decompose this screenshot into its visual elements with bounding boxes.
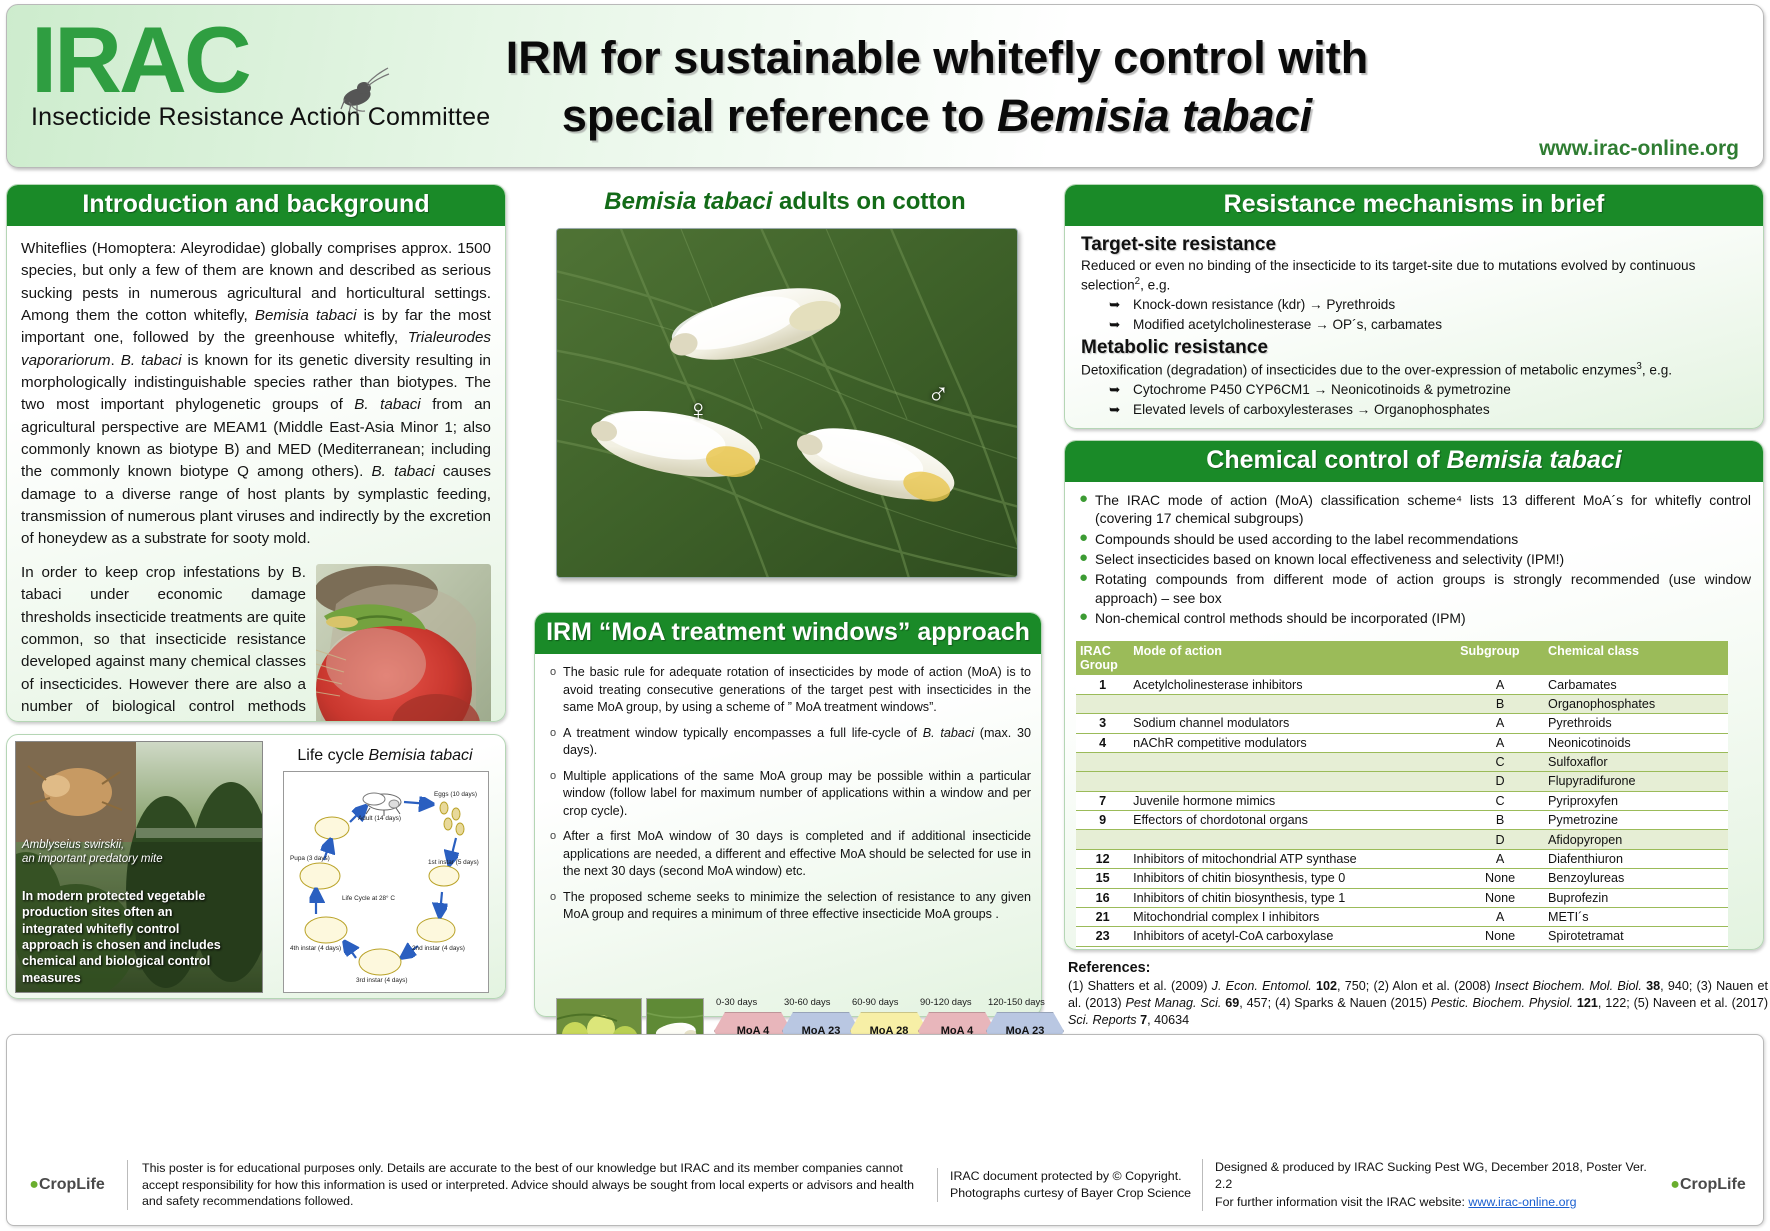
cell-subgroup: A [1456,675,1544,694]
table-row: DAfidopyropen [1076,830,1728,849]
moa-classification-table: IRACGroup Mode of action Subgroup Chemic… [1076,641,1728,950]
svg-text:2nd instar (4 days): 2nd instar (4 days) [412,945,465,952]
moa-item-text: The basic rule for adequate rotation of … [563,664,1031,717]
cell-chemical-class: Benzoylureas [1544,869,1728,888]
poster-title-line2: special reference to Bemisia tabaci [437,87,1437,145]
cell-irac-group [1076,752,1129,771]
resistance-heading: Resistance mechanisms in brief [1065,185,1763,226]
cell-irac-group: 21 [1076,907,1129,926]
moa-list-item: o After a first MoA window of 30 days is… [543,828,1031,881]
cell-subgroup: B [1456,694,1544,713]
bullet-dot-icon: ● [1079,570,1095,607]
bullet-dot-icon: ● [1079,609,1095,627]
cell-chemical-class: Afidopyropen [1544,830,1728,849]
moa-list-item: o A treatment window typically encompass… [543,725,1031,760]
cell-mode-of-action [1129,752,1456,771]
poster-title: IRM for sustainable whitefly control wit… [437,29,1437,145]
cell-chemical-class: Spirotetramat [1544,927,1728,946]
table-row: 12Inhibitors of mitochondrial ATP syntha… [1076,849,1728,868]
moa-item-text: After a first MoA window of 30 days is c… [563,828,1031,881]
resistance-mechanisms-panel: Resistance mechanisms in brief Target-si… [1064,184,1764,429]
moa-list-item: o Multiple applications of the same MoA … [543,768,1031,821]
table-row: 28Ryanodine receptor modulatorsNoneCyant… [1076,946,1728,950]
introduction-heading: Introduction and background [7,185,505,226]
bullet-dot-icon: ● [1079,491,1095,528]
cell-mode-of-action: Juvenile hormone mimics [1129,791,1456,810]
table-row: 7Juvenile hormone mimicsCPyriproxyfen [1076,791,1728,810]
bemisia-photo-caption: Bemisia tabaci adults on cotton [520,188,1050,216]
bullet-dot-icon: ● [1079,530,1095,548]
table-row: 9Effectors of chordotonal organsBPymetro… [1076,811,1728,830]
resistance-item-text: Knock-down resistance (kdr) → Pyrethroid… [1133,295,1749,315]
table-row: 16Inhibitors of chitin biosynthesis, typ… [1076,888,1728,907]
cell-irac-group: 4 [1076,733,1129,752]
cell-subgroup: None [1456,927,1544,946]
cell-irac-group [1076,830,1129,849]
chevron-right-icon: ➥ [1081,315,1133,335]
cell-subgroup: A [1456,907,1544,926]
cell-subgroup: C [1456,791,1544,810]
references-block: References: (1) Shatters et al. (2009) J… [1068,960,1768,1029]
whitefly-logo-icon [331,65,391,117]
cell-irac-group: 15 [1076,869,1129,888]
moa-approach-body: o The basic rule for adequate rotation o… [535,654,1041,938]
introduction-panel: Introduction and background Whiteflies (… [6,184,506,722]
cell-subgroup: A [1456,714,1544,733]
window-days-label: 90-120 days [920,996,972,1007]
cell-irac-group: 12 [1076,849,1129,868]
table-row: 3Sodium channel modulatorsAPyrethroids [1076,714,1728,733]
greenhouse-photo: Amblyseius swirskii, an important predat… [15,741,263,993]
introduction-paragraph-2: In order to keep crop infestations by B.… [21,562,491,722]
cell-mode-of-action [1129,694,1456,713]
moa-approach-heading: IRM “MoA treatment windows” approach [535,613,1041,654]
cell-subgroup: A [1456,849,1544,868]
lifecycle-title: Life cycle Bemisia tabaci [269,747,501,765]
cell-subgroup: D [1456,830,1544,849]
cell-subgroup: D [1456,772,1544,791]
cell-mode-of-action [1129,830,1456,849]
moa-item-text: Multiple applications of the same MoA gr… [563,768,1031,821]
cell-subgroup: None [1456,888,1544,907]
introduction-paragraph-1: Whiteflies (Homoptera: Aleyrodidae) glob… [21,238,491,551]
croplife-logo-left: ●CropLife [7,1176,127,1194]
cell-irac-group: 9 [1076,811,1129,830]
table-row: DFlupyradifurone [1076,772,1728,791]
chemical-control-heading: Chemical control of Bemisia tabaci [1065,441,1763,482]
cell-chemical-class: Pyrethroids [1544,714,1728,733]
cell-subgroup: None [1456,869,1544,888]
chevron-right-icon: ➥ [1081,380,1133,400]
target-site-text: Reduced or even no binding of the insect… [1081,257,1749,295]
cell-chemical-class: Carbamates [1544,675,1728,694]
poster-title-line1: IRM for sustainable whitefly control wit… [437,29,1437,87]
female-symbol-icon: ♀ [687,394,710,428]
table-row: 4nAChR competitive modulatorsANeonicotin… [1076,733,1728,752]
cell-irac-group: 7 [1076,791,1129,810]
cell-mode-of-action: Ryanodine receptor modulators [1129,946,1456,950]
cell-chemical-class: Cyantraniliprole [1544,946,1728,950]
cell-chemical-class: Buprofezin [1544,888,1728,907]
moa-list-item: o The basic rule for adequate rotation o… [543,664,1031,717]
cell-mode-of-action: nAChR competitive modulators [1129,733,1456,752]
cell-chemical-class: Sulfoxaflor [1544,752,1728,771]
references-text: (1) Shatters et al. (2009) J. Econ. Ento… [1068,978,1768,1029]
poster-root: IRAC Insecticide Resistance Action Commi… [0,0,1770,1231]
cell-mode-of-action: Inhibitors of acetyl-CoA carboxylase [1129,927,1456,946]
chem-list-item: ● Compounds should be used according to … [1079,530,1751,548]
circle-bullet-icon: o [543,768,563,821]
column-header-chemical-class: Chemical class [1544,641,1728,675]
introduction-body: Whiteflies (Homoptera: Aleyrodidae) glob… [7,226,505,722]
cell-irac-group: 1 [1076,675,1129,694]
svg-text:Eggs (10 days): Eggs (10 days) [434,791,477,798]
cell-irac-group: 28 [1076,946,1129,950]
resistance-list-item: ➥ Elevated levels of carboxylesterases →… [1081,400,1749,420]
svg-text:3rd instar (4 days): 3rd instar (4 days) [356,977,408,984]
chem-item-text: The IRAC mode of action (MoA) classifica… [1095,491,1751,528]
moa-item-text: The proposed scheme seeks to minimize th… [563,889,1031,924]
cell-mode-of-action: Acetylcholinesterase inhibitors [1129,675,1456,694]
resistance-item-text: Elevated levels of carboxylesterases → O… [1133,400,1749,420]
window-days-label: 30-60 days [784,996,830,1007]
cell-irac-group [1076,694,1129,713]
footer-production-info: Designed & produced by IRAC Sucking Pest… [1202,1159,1653,1211]
poster-footer: ●CropLife This poster is for educational… [6,1034,1764,1226]
cell-mode-of-action: Sodium channel modulators [1129,714,1456,733]
chemical-control-body: ● The IRAC mode of action (MoA) classifi… [1065,482,1763,633]
lifecycle-diagram: Eggs (10 days) Adult (14 days) 1st insta… [283,771,489,993]
cell-irac-group [1076,772,1129,791]
circle-bullet-icon: o [543,828,563,881]
poster-header: IRAC Insecticide Resistance Action Commi… [6,4,1764,168]
window-days-label: 60-90 days [852,996,898,1007]
cell-mode-of-action [1129,772,1456,791]
references-heading: References: [1068,960,1768,976]
cell-mode-of-action: Inhibitors of chitin biosynthesis, type … [1129,869,1456,888]
cell-subgroup: None [1456,946,1544,950]
table-header-row: IRACGroup Mode of action Subgroup Chemic… [1076,641,1728,675]
resistance-list-item: ➥ Modified acetylcholinesterase → OP´s, … [1081,315,1749,335]
table-row: 15Inhibitors of chitin biosynthesis, typ… [1076,869,1728,888]
cell-mode-of-action: Effectors of chordotonal organs [1129,811,1456,830]
moa-list-item: o The proposed scheme seeks to minimize … [543,889,1031,924]
metabolic-text: Detoxification (degradation) of insectic… [1081,360,1749,380]
mite-caption: Amblyseius swirskii, an important predat… [22,838,172,867]
chem-item-text: Rotating compounds from different mode o… [1095,570,1751,607]
chem-list-item: ● Non-chemical control methods should be… [1079,609,1751,627]
bemisia-adults-photo: ♀ ♂ [556,228,1018,578]
male-symbol-icon: ♂ [927,377,950,411]
svg-text:Adult (14 days): Adult (14 days) [358,815,401,822]
lifecycle-panel: Amblyseius swirskii, an important predat… [6,734,506,999]
chem-item-text: Compounds should be used according to th… [1095,530,1751,548]
svg-text:Pupa (3 days): Pupa (3 days) [290,855,330,862]
metabolic-heading: Metabolic resistance [1081,337,1749,359]
resistance-body: Target-site resistance Reduced or even n… [1065,226,1763,429]
cell-subgroup: C [1456,752,1544,771]
circle-bullet-icon: o [543,889,563,924]
chevron-right-icon: ➥ [1081,295,1133,315]
greenhouse-caption: In modern protected vegetable production… [22,888,222,986]
table-row: CSulfoxaflor [1076,752,1728,771]
cell-subgroup: A [1456,733,1544,752]
target-site-heading: Target-site resistance [1081,234,1749,256]
cell-chemical-class: Organophosphates [1544,694,1728,713]
window-days-label: 120-150 days [988,996,1045,1007]
table-row: 1Acetylcholinesterase inhibitorsACarbama… [1076,675,1728,694]
moa-item-text: A treatment window typically encompasses… [563,725,1031,760]
cell-subgroup: B [1456,811,1544,830]
column-header-mode-of-action: Mode of action [1129,641,1456,675]
cell-irac-group: 23 [1076,927,1129,946]
resistance-item-text: Modified acetylcholinesterase → OP´s, ca… [1133,315,1749,335]
chem-list-item: ● Select insecticides based on known loc… [1079,550,1751,568]
footer-disclaimer: This poster is for educational purposes … [127,1160,937,1210]
resistance-item-text: Cytochrome P450 CYP6CM1 → Neonicotinoids… [1133,380,1749,400]
footer-website-link[interactable]: www.irac-online.org [1468,1195,1576,1209]
cell-chemical-class: METI´s [1544,907,1728,926]
svg-text:1st instar (5 days): 1st instar (5 days) [428,859,479,866]
resistance-list-item: ➥ Knock-down resistance (kdr) → Pyrethro… [1081,295,1749,315]
header-website-url[interactable]: www.irac-online.org [1539,137,1739,161]
chem-item-text: Select insecticides based on known local… [1095,550,1751,568]
chem-list-item: ● Rotating compounds from different mode… [1079,570,1751,607]
chem-list-item: ● The IRAC mode of action (MoA) classifi… [1079,491,1751,528]
chemical-control-panel: Chemical control of Bemisia tabaci ● The… [1064,440,1764,950]
chem-item-text: Non-chemical control methods should be i… [1095,609,1751,627]
cell-mode-of-action: Inhibitors of chitin biosynthesis, type … [1129,888,1456,907]
moa-approach-panel: IRM “MoA treatment windows” approach o T… [534,612,1042,1017]
cell-chemical-class: Pymetrozine [1544,811,1728,830]
croplife-logo-right: ●CropLife [1653,1176,1763,1194]
chevron-right-icon: ➥ [1081,400,1133,420]
table-row: 21Mitochondrial complex I inhibitorsAMET… [1076,907,1728,926]
circle-bullet-icon: o [543,664,563,717]
cell-irac-group: 3 [1076,714,1129,733]
cell-mode-of-action: Inhibitors of mitochondrial ATP synthase [1129,849,1456,868]
bullet-dot-icon: ● [1079,550,1095,568]
svg-text:Life Cycle at 28° C: Life Cycle at 28° C [342,894,395,902]
cell-chemical-class: Flupyradifurone [1544,772,1728,791]
cell-chemical-class: Neonicotinoids [1544,733,1728,752]
table-row: 23Inhibitors of acetyl-CoA carboxylaseNo… [1076,927,1728,946]
column-header-irac-group: IRACGroup [1076,641,1129,675]
table-row: BOrganophosphates [1076,694,1728,713]
cell-mode-of-action: Mitochondrial complex I inhibitors [1129,907,1456,926]
cell-chemical-class: Pyriproxyfen [1544,791,1728,810]
cell-chemical-class: Diafenthiuron [1544,849,1728,868]
resistance-list-item: ➥ Cytochrome P450 CYP6CM1 → Neonicotinoi… [1081,380,1749,400]
footer-copyright: IRAC document protected by © Copyright. … [937,1168,1202,1203]
cell-irac-group: 16 [1076,888,1129,907]
column-header-subgroup: Subgroup [1456,641,1544,675]
window-days-label: 0-30 days [716,996,757,1007]
svg-text:4th instar (4 days): 4th instar (4 days) [290,945,341,952]
circle-bullet-icon: o [543,725,563,760]
